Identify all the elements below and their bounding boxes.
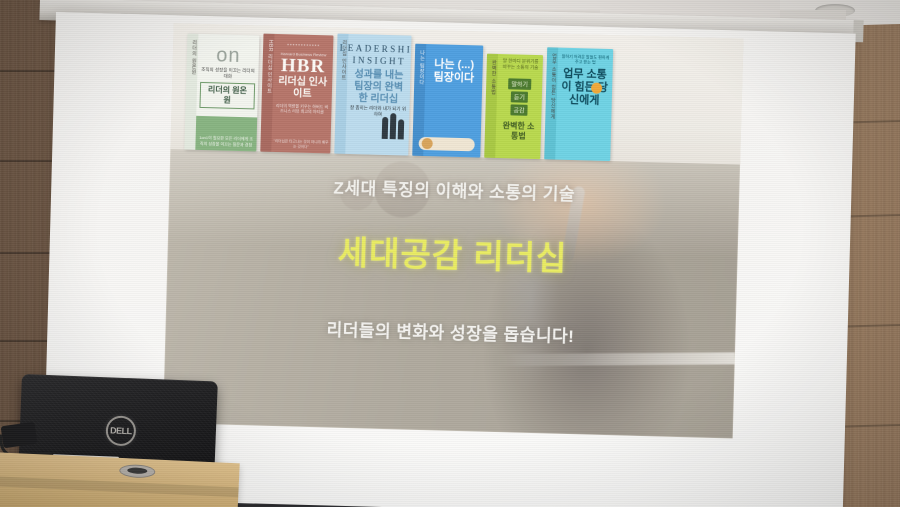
slide-subtitle-top: Z세대 특징의 이해와 소통의 기술 xyxy=(169,169,739,209)
slide-title: 세대공감 리더십 xyxy=(167,221,738,284)
slide-text-block: Z세대 특징의 이해와 소통의 기술 세대공감 리더십 리더들의 변화와 성장을… xyxy=(163,23,744,438)
dell-logo-icon: DELL xyxy=(105,415,136,446)
screen-weight-bar[interactable] xyxy=(193,502,893,507)
slide-subtitle-bottom: 리더들의 변화와 성장을 돕습니다! xyxy=(165,311,735,351)
cable-grommet-icon xyxy=(119,464,156,479)
projected-slide: 리더의 원온원 on 조직의 성장을 이끄는 리더의 대화 리더의 원온원 1o… xyxy=(163,23,744,438)
desk-edge xyxy=(0,476,239,497)
projection-room-photo: 리더의 원온원 on 조직의 성장을 이끄는 리더의 대화 리더의 원온원 1o… xyxy=(0,0,900,507)
